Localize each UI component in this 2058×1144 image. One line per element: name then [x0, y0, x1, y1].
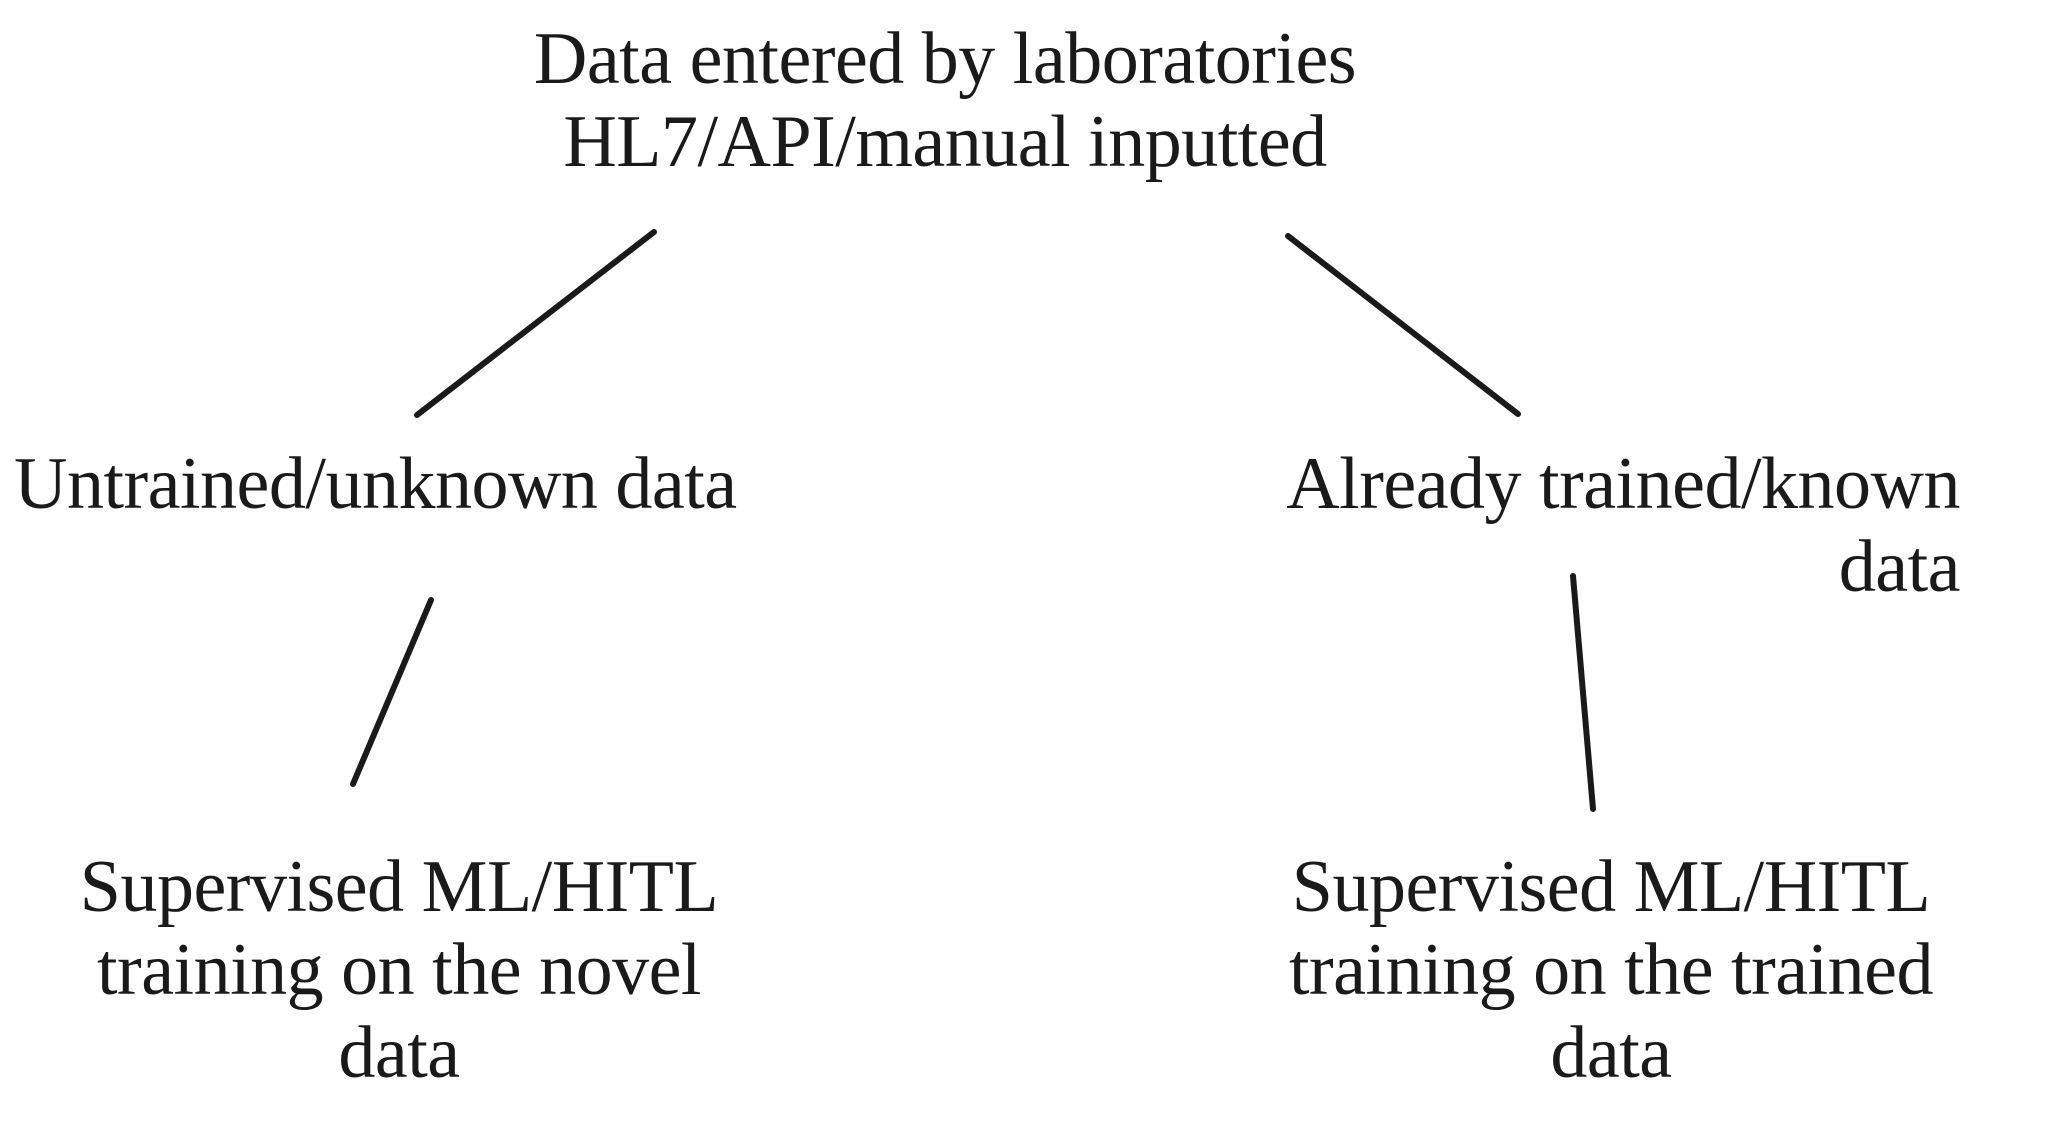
connector-untrained-to-train-novel	[353, 600, 431, 784]
node-supervised-training-novel-data: Supervised ML/HITL training on the novel…	[4, 846, 794, 1095]
node-data-entered-by-laboratories: Data entered by laboratories HL7/API/man…	[455, 18, 1435, 184]
diagram-canvas: Data entered by laboratories HL7/API/man…	[0, 0, 2058, 1144]
connector-source-to-untrained	[417, 232, 654, 415]
node-supervised-training-trained-data: Supervised ML/HITL training on the train…	[1216, 846, 2006, 1095]
node-untrained-unknown-data: Untrained/unknown data	[14, 443, 974, 526]
connector-source-to-known	[1288, 236, 1518, 414]
node-already-trained-known-data: Already trained/known data	[1060, 443, 1960, 609]
connector-known-to-train-trained	[1573, 576, 1593, 809]
